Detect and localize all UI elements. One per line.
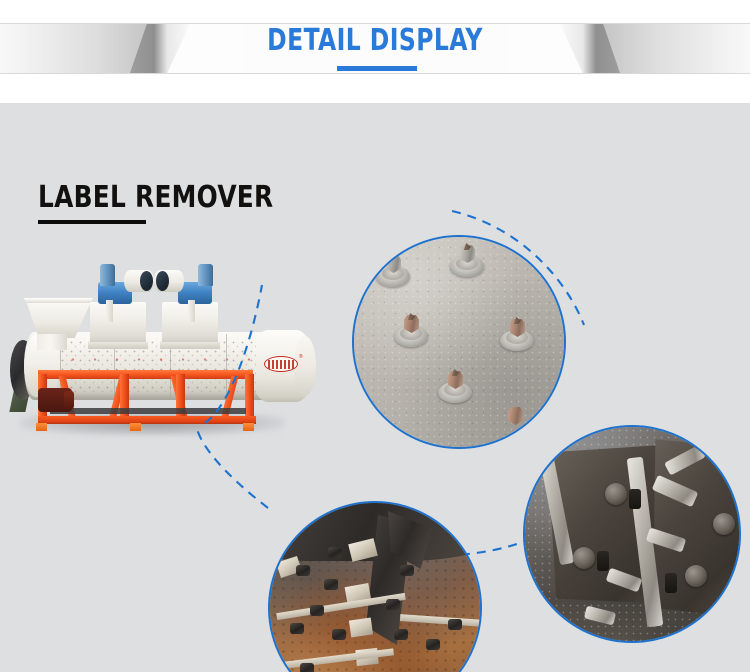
blower-unit-right-intake (156, 271, 169, 291)
welded-stud (394, 313, 428, 347)
bolt-slot (597, 551, 609, 571)
support-frame-leg (120, 374, 129, 422)
bolt-clamp (386, 599, 400, 610)
support-frame-foot (243, 423, 254, 431)
bolt-clamp (324, 579, 338, 590)
blower-unit-right-motor (198, 264, 213, 286)
bolt-slot (629, 489, 641, 509)
brand-logo-badge (264, 356, 298, 372)
hex-bolt (573, 547, 595, 569)
bolt-clamp (426, 639, 440, 650)
detail-photo-rusty-cutter-assembly[interactable] (268, 501, 482, 672)
bolt-clamp (328, 547, 342, 558)
bolt-clamp (448, 619, 462, 630)
page-title-underline (337, 66, 417, 71)
support-frame-floor-rail (50, 408, 246, 414)
page-root: DETAIL DISPLAY LABEL REMOVER (0, 0, 750, 672)
welded-stud (500, 317, 534, 351)
hex-bolt (605, 483, 627, 505)
dust-cabinet-left-base (88, 342, 148, 349)
stud-hex-head (508, 407, 523, 425)
detail-photo-bolted-steel-bracket[interactable] (523, 425, 741, 643)
feed-hopper-neck (37, 334, 67, 350)
bolt-clamp (394, 629, 408, 640)
detail-photo-welded-studs[interactable] (352, 235, 566, 449)
hex-bolt (713, 513, 735, 535)
bolt-clamp (310, 605, 324, 616)
bolt-clamp (332, 629, 346, 640)
welded-stud (450, 243, 484, 277)
support-frame-foot (130, 423, 141, 431)
support-frame-bottom-rail (38, 416, 256, 424)
trademark-mark: ® (299, 354, 303, 360)
drum-seam (226, 334, 227, 398)
blower-unit-left-intake (140, 271, 153, 291)
blower-unit-left-motor (100, 264, 115, 286)
support-frame-foot (36, 423, 47, 431)
dust-cabinet-right-base (160, 342, 220, 349)
welded-stud (438, 369, 472, 403)
cutter-tip (349, 618, 373, 638)
bolt-clamp (300, 663, 314, 672)
product-name-heading: LABEL REMOVER (38, 183, 273, 213)
bolt-slot (665, 573, 677, 593)
bolt-clamp (296, 565, 310, 576)
drive-motor-end-cap (64, 391, 74, 409)
bolt-clamp (290, 623, 304, 634)
bolt-clamp (400, 565, 414, 576)
detail-display-body: LABEL REMOVER (0, 103, 750, 672)
dust-cabinet-left (90, 302, 146, 346)
support-frame-leg (245, 374, 254, 422)
product-name-underline (38, 220, 146, 224)
feed-hopper-rim (19, 298, 93, 303)
brand-logo-characters (268, 360, 294, 369)
hex-bolt (685, 565, 707, 587)
blower-unit-left-pipe (106, 300, 113, 322)
blower-unit-right-pipe (188, 300, 195, 322)
label-remover-machine: ® (2, 238, 332, 453)
welded-stud (376, 253, 410, 287)
page-title: DETAIL DISPLAY (260, 26, 490, 56)
support-frame-leg (176, 374, 185, 422)
support-frame-top-rail (38, 370, 253, 379)
section-header-banner: DETAIL DISPLAY (0, 0, 750, 103)
